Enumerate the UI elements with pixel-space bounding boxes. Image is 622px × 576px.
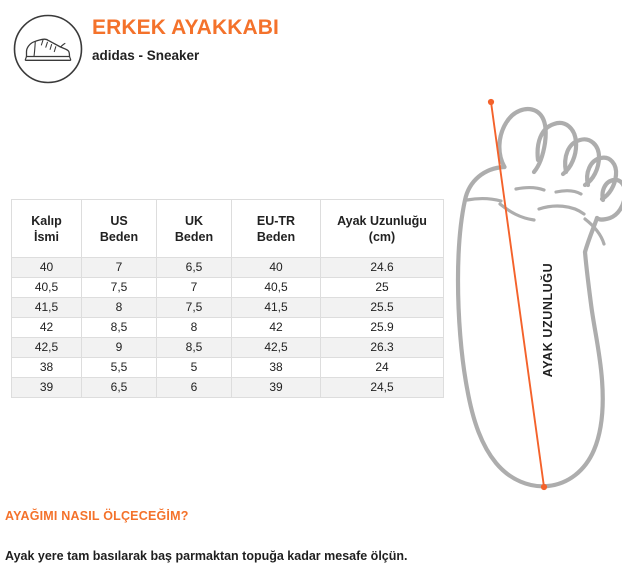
size-table: Kalıp İsmi US Beden UK Beden EU-TR Beden…	[11, 199, 444, 398]
table-row: 40 7 6,5 40 24.6	[12, 258, 444, 278]
column-header-us-beden: US Beden	[82, 200, 157, 258]
table-row: 40,5 7,5 7 40,5 25	[12, 278, 444, 298]
cell-ayak-uzunlugu: 24.6	[321, 258, 444, 278]
page-title: ERKEK AYAKKABI	[92, 15, 452, 41]
table-row: 39 6,5 6 39 24,5	[12, 378, 444, 398]
cell-ayak-uzunlugu: 25.9	[321, 318, 444, 338]
measure-heading: AYAĞIMI NASIL ÖLÇECEĞİM?	[5, 508, 605, 524]
cell-kalip-ismi: 39	[12, 378, 82, 398]
cell-kalip-ismi: 40,5	[12, 278, 82, 298]
cell-kalip-ismi: 42,5	[12, 338, 82, 358]
table-row: 42,5 9 8,5 42,5 26.3	[12, 338, 444, 358]
page-header: ERKEK AYAKKABI adidas - Sneaker	[0, 0, 622, 92]
cell-eu-tr-beden: 42,5	[232, 338, 321, 358]
cell-eu-tr-beden: 42	[232, 318, 321, 338]
cell-eu-tr-beden: 41,5	[232, 298, 321, 318]
size-table-container: Kalıp İsmi US Beden UK Beden EU-TR Beden…	[11, 199, 443, 398]
cell-uk-beden: 6,5	[157, 258, 232, 278]
cell-kalip-ismi: 40	[12, 258, 82, 278]
cell-ayak-uzunlugu: 25.5	[321, 298, 444, 318]
foot-sole-diagram	[444, 88, 622, 500]
cell-kalip-ismi: 38	[12, 358, 82, 378]
cell-ayak-uzunlugu: 25	[321, 278, 444, 298]
cell-uk-beden: 8	[157, 318, 232, 338]
cell-eu-tr-beden: 40	[232, 258, 321, 278]
cell-us-beden: 7,5	[82, 278, 157, 298]
column-header-eu-tr-beden: EU-TR Beden	[232, 200, 321, 258]
cell-uk-beden: 6	[157, 378, 232, 398]
table-row: 42 8,5 8 42 25.9	[12, 318, 444, 338]
cell-us-beden: 8,5	[82, 318, 157, 338]
cell-us-beden: 8	[82, 298, 157, 318]
cell-ayak-uzunlugu: 26.3	[321, 338, 444, 358]
column-header-uk-beden: UK Beden	[157, 200, 232, 258]
table-header-row: Kalıp İsmi US Beden UK Beden EU-TR Beden…	[12, 200, 444, 258]
cell-uk-beden: 5	[157, 358, 232, 378]
cell-us-beden: 9	[82, 338, 157, 358]
title-block: ERKEK AYAKKABI adidas - Sneaker	[92, 15, 452, 65]
table-row: 41,5 8 7,5 41,5 25.5	[12, 298, 444, 318]
cell-us-beden: 7	[82, 258, 157, 278]
cell-kalip-ismi: 42	[12, 318, 82, 338]
measure-instructions: AYAĞIMI NASIL ÖLÇECEĞİM? Ayak yere tam b…	[5, 508, 605, 565]
page-subtitle: adidas - Sneaker	[92, 47, 452, 65]
cell-kalip-ismi: 41,5	[12, 298, 82, 318]
measure-instruction-text: Ayak yere tam basılarak baş parmaktan to…	[5, 548, 605, 565]
sneaker-icon	[11, 12, 85, 86]
cell-ayak-uzunlugu: 24,5	[321, 378, 444, 398]
cell-ayak-uzunlugu: 24	[321, 358, 444, 378]
column-header-ayak-uzunlugu: Ayak Uzunluğu (cm)	[321, 200, 444, 258]
cell-eu-tr-beden: 40,5	[232, 278, 321, 298]
column-header-kalip-ismi: Kalıp İsmi	[12, 200, 82, 258]
cell-us-beden: 5,5	[82, 358, 157, 378]
cell-uk-beden: 7	[157, 278, 232, 298]
foot-length-label: AYAK UZUNLUĞU	[541, 263, 555, 378]
cell-eu-tr-beden: 38	[232, 358, 321, 378]
cell-us-beden: 6,5	[82, 378, 157, 398]
cell-uk-beden: 8,5	[157, 338, 232, 358]
table-row: 38 5,5 5 38 24	[12, 358, 444, 378]
cell-eu-tr-beden: 39	[232, 378, 321, 398]
cell-uk-beden: 7,5	[157, 298, 232, 318]
